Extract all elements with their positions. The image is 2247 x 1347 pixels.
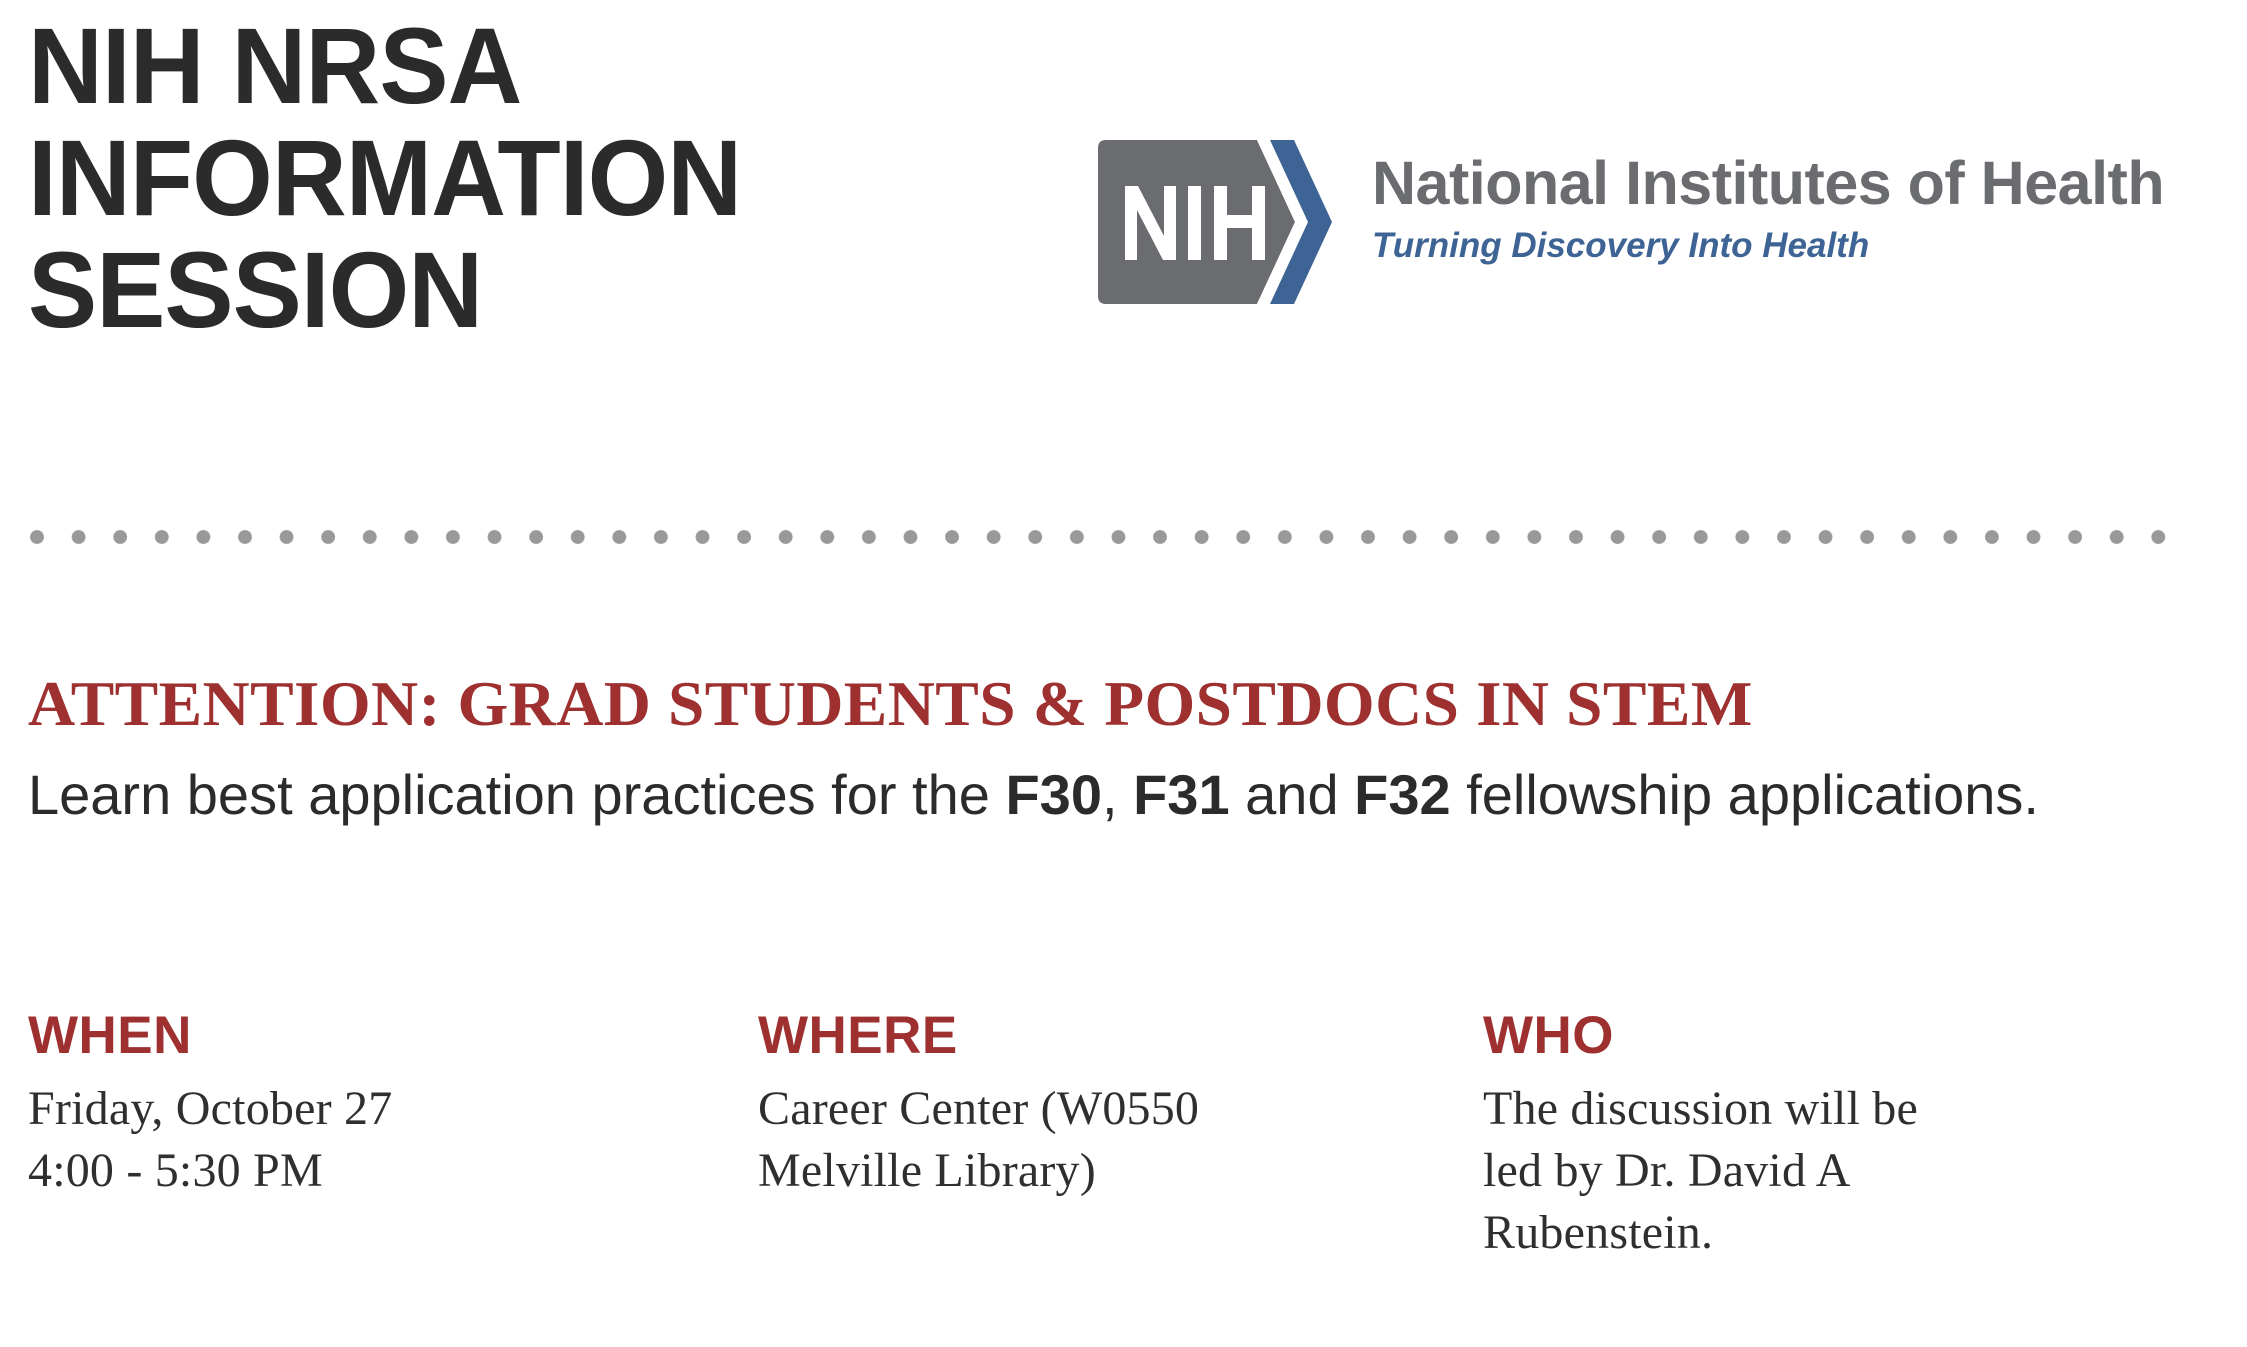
detail-body-who: The discussion will be led by Dr. David … [1483, 1078, 2183, 1264]
who-line-1: The discussion will be [1483, 1082, 1918, 1135]
when-line-2: 4:00 - 5:30 PM [28, 1144, 323, 1197]
nih-logo-text: National Institutes of Health Turning Di… [1372, 148, 2232, 268]
nih-tagline: Turning Discovery Into Health [1372, 224, 2232, 268]
fellowship-code-f30: F30 [1005, 763, 1102, 826]
where-line-1: Career Center (W0550 [758, 1082, 1199, 1135]
who-line-2: led by Dr. David A [1483, 1144, 1851, 1197]
title-line-3: SESSION [28, 234, 1007, 346]
where-line-2: Melville Library) [758, 1144, 1096, 1197]
attention-body-prefix: Learn best application practices for the [28, 763, 1005, 826]
nih-logo-mark-icon [1094, 138, 1344, 306]
detail-body-when: Friday, October 27 4:00 - 5:30 PM [28, 1078, 728, 1202]
page-title: NIH NRSA INFORMATION SESSION [28, 10, 1048, 346]
detail-heading-who: WHO [1483, 1008, 2183, 1064]
nih-wordmark: National Institutes of Health [1372, 148, 2232, 218]
nih-logo: National Institutes of Health Turning Di… [1094, 138, 2234, 313]
details-section: WHEN Friday, October 27 4:00 - 5:30 PM W… [28, 1008, 2228, 1338]
dotted-divider [30, 528, 2170, 546]
attention-headline: ATTENTION: GRAD STUDENTS & POSTDOCS IN S… [28, 672, 2247, 736]
attention-section: ATTENTION: GRAD STUDENTS & POSTDOCS IN S… [28, 672, 2218, 832]
detail-body-where: Career Center (W0550 Melville Library) [758, 1078, 1458, 1202]
when-line-1: Friday, October 27 [28, 1082, 392, 1135]
flyer-header: NIH NRSA INFORMATION SESSION [0, 0, 2247, 520]
attention-body: Learn best application practices for the… [28, 758, 2208, 832]
fellowship-code-f32: F32 [1354, 763, 1451, 826]
fellowship-code-f31: F31 [1133, 763, 1230, 826]
who-line-3: Rubenstein. [1483, 1206, 1713, 1259]
attention-body-suffix: fellowship applications. [1451, 763, 2039, 826]
attention-body-sep-2: and [1230, 763, 1355, 826]
title-line-1: NIH NRSA [28, 10, 1007, 122]
detail-column-when: WHEN Friday, October 27 4:00 - 5:30 PM [28, 1008, 728, 1202]
detail-column-who: WHO The discussion will be led by Dr. Da… [1483, 1008, 2183, 1264]
flyer-canvas: NIH NRSA INFORMATION SESSION [0, 0, 2247, 1347]
detail-heading-when: WHEN [28, 1008, 728, 1064]
attention-body-sep-1: , [1102, 763, 1133, 826]
title-line-2: INFORMATION [28, 122, 1007, 234]
detail-heading-where: WHERE [758, 1008, 1458, 1064]
detail-column-where: WHERE Career Center (W0550 Melville Libr… [758, 1008, 1458, 1202]
